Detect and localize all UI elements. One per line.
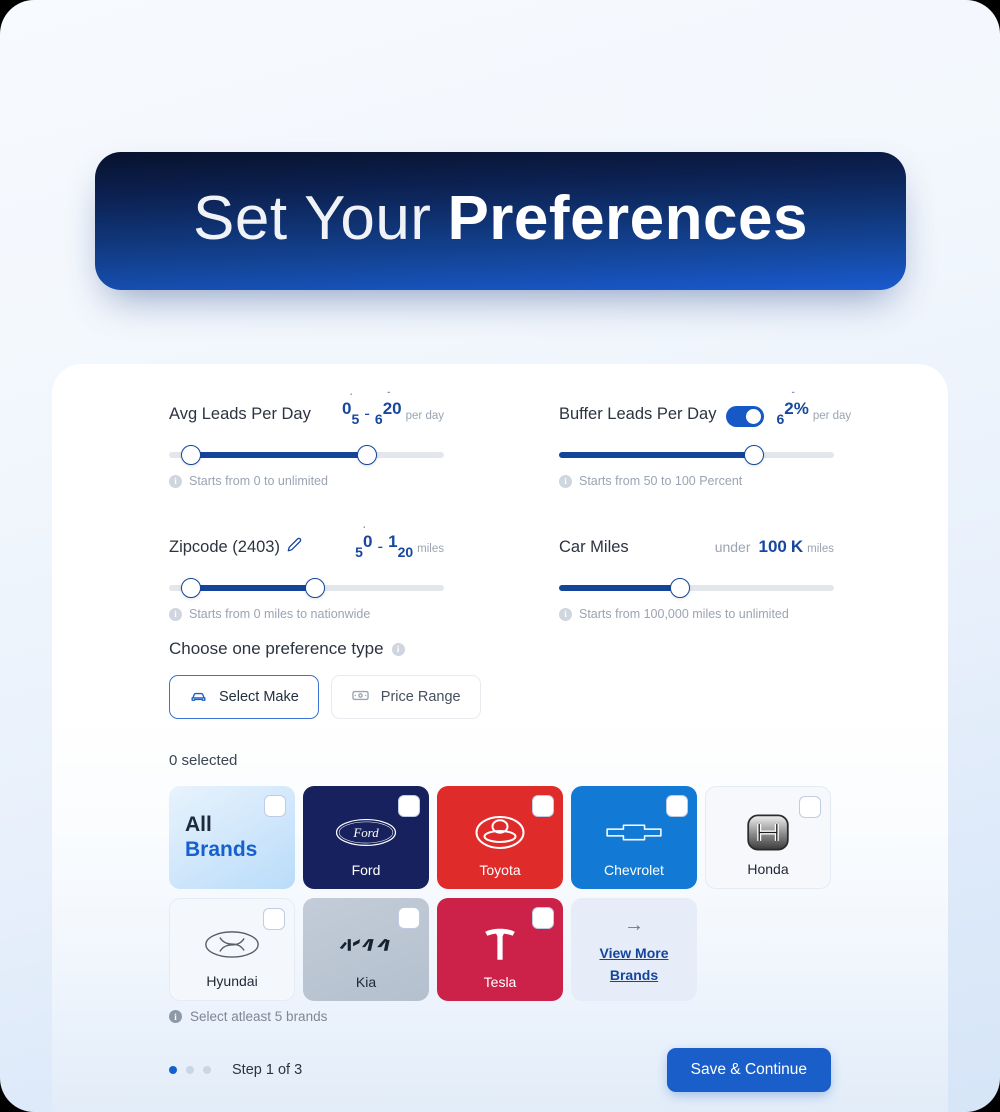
brand-card-view-more[interactable]: → View More Brands [571,898,697,1001]
brand-label: Kia [356,974,376,990]
value-lead: 100 [759,537,787,557]
slider-avg-leads-per-day: Avg Leads Per Day . 05 - - 620 per day [169,404,444,488]
slider-fill [191,452,367,458]
value-max-lead: 6 [375,411,383,427]
roller-ghost-digit: - [791,387,793,398]
app-screen: Set YourPreferences Avg Leads Per Day . … [0,0,1000,1112]
view-more-label-line2: Brands [610,966,658,985]
kia-logo-icon [303,921,429,967]
slider-value-display: - 62% per day [776,404,851,424]
page-title: Set YourPreferences [193,188,808,254]
slider-car-miles: Car Miles under 100K miles i Starts from… [559,537,834,621]
range-separator: - [364,404,370,424]
brand-label-line1: All [185,813,212,837]
slider-unit: miles [807,543,834,555]
value-max-trail: 20 [398,544,414,560]
roller-ghost-digit-2: - [387,387,389,398]
slider-value-display: under 100K miles [715,537,834,557]
money-icon [351,686,370,709]
ford-logo-icon: Ford [303,809,429,855]
brand-label: Hyundai [206,973,257,989]
slider-header: Zipcode (2403) . 50 - 120 miles [169,537,444,561]
roller-ghost-digit: . [350,387,352,398]
slider-hint-text: Starts from 50 to 100 Percent [579,474,742,488]
slider-track-area[interactable] [559,445,834,465]
slider-knob[interactable] [744,445,764,465]
brand-card-tesla[interactable]: Tesla [437,898,563,1001]
honda-logo-icon [706,809,830,855]
value-max-roller: 120 [388,537,413,557]
hyundai-logo-icon [170,921,294,967]
slider-zipcode: Zipcode (2403) . 50 - 120 miles [169,537,444,621]
brand-card-hyundai[interactable]: Hyundai [169,898,295,1001]
brand-grid: All Brands Ford Ford Toyota [169,786,831,1001]
slider-grid: Avg Leads Per Day . 05 - - 620 per day [169,404,849,621]
hero-banner: Set YourPreferences [95,152,906,290]
value-max-lead: 1 [388,532,397,552]
slider-hint: i Starts from 0 miles to nationwide [169,607,444,621]
slider-value-display: . 05 - - 620 per day [342,404,444,424]
value-min-lead: 0 [342,399,351,419]
buffer-leads-toggle[interactable] [726,406,764,427]
view-more-label-line1: View More [600,944,669,963]
value-max-trail: 20 [383,399,402,419]
slider-track-area[interactable] [169,578,444,598]
slider-unit: per day [406,410,444,422]
slider-knob-max[interactable] [305,578,325,598]
selected-count: 0 selected [169,752,237,769]
slider-hint: i Starts from 100,000 miles to unlimited [559,607,834,621]
brand-label: Toyota [479,862,520,878]
slider-knob-min[interactable] [181,578,201,598]
brand-checkbox[interactable] [264,795,286,817]
slider-fill [559,585,680,591]
value-lead: 6 [776,411,784,427]
slider-knob-max[interactable] [357,445,377,465]
slider-header: Car Miles under 100K miles [559,537,834,561]
hero-inner: Set YourPreferences [95,152,906,290]
brand-card-toyota[interactable]: Toyota [437,786,563,889]
slider-track-area[interactable] [169,445,444,465]
preference-option-label: Price Range [381,689,461,705]
brand-card-chevrolet[interactable]: Chevrolet [571,786,697,889]
arrow-right-icon: → [624,915,644,935]
brand-label: Tesla [484,974,517,990]
brand-card-ford[interactable]: Ford Ford [303,786,429,889]
info-icon: i [169,475,182,488]
preference-type-title: Choose one preference type [169,639,384,659]
slider-value-display: . 50 - 120 miles [355,537,444,557]
slider-label: Zipcode (2403) [169,538,280,557]
info-icon: i [559,608,572,621]
svg-text:Ford: Ford [352,825,379,840]
slider-hint-text: Starts from 0 miles to nationwide [189,607,370,621]
value-min-trail: 5 [351,411,359,427]
tesla-logo-icon [437,921,563,967]
car-icon [189,686,208,709]
range-separator: - [377,537,383,557]
preference-option-price-range[interactable]: Price Range [331,675,481,719]
slider-unit: miles [417,543,444,555]
brand-label: Chevrolet [604,862,664,878]
slider-hint-text: Starts from 100,000 miles to unlimited [579,607,789,621]
preference-type-header: Choose one preference type i [169,639,481,659]
slider-knob[interactable] [670,578,690,598]
brand-note-text: Select atleast 5 brands [190,1009,327,1024]
save-and-continue-button[interactable]: Save & Continue [667,1048,831,1092]
brand-selection-note: i Select atleast 5 brands [169,1009,327,1024]
value-min-roller: . 50 [355,537,372,557]
value-trail: 2% [784,399,809,419]
preference-option-label: Select Make [219,689,299,705]
slider-hint-text: Starts from 0 to unlimited [189,474,328,488]
preference-type-section: Choose one preference type i Select Make… [169,639,481,719]
slider-hint: i Starts from 0 to unlimited [169,474,444,488]
card-footer: Step 1 of 3 Save & Continue [169,1048,831,1092]
brand-card-all-brands[interactable]: All Brands [169,786,295,889]
brand-label-line2: Brands [185,838,257,862]
step-dot-2[interactable] [186,1066,194,1074]
preference-type-options: Select Make Price Range [169,675,481,719]
brand-label: Honda [747,861,788,877]
slider-unit: per day [813,410,851,422]
step-dot-1[interactable] [169,1066,177,1074]
value-roller: - 62% [776,404,808,424]
slider-buffer-leads-per-day: Buffer Leads Per Day - 62% per day [559,404,834,488]
edit-pencil-icon[interactable] [287,537,302,552]
brand-label: Ford [352,862,381,878]
step-dot-3[interactable] [203,1066,211,1074]
preference-option-select-make[interactable]: Select Make [169,675,319,719]
chevrolet-logo-icon [571,809,697,855]
slider-label: Buffer Leads Per Day [559,405,716,424]
brand-card-honda[interactable]: Honda [705,786,831,889]
slider-track-area[interactable] [559,578,834,598]
page-title-bold: Preferences [447,184,808,253]
step-indicator-text: Step 1 of 3 [232,1062,302,1078]
info-icon: i [169,1010,182,1023]
slider-header: Buffer Leads Per Day - 62% per day [559,404,834,428]
page-title-light: Set Your [193,184,431,253]
value-min-roller: . 05 [342,404,359,424]
slider-knob-min[interactable] [181,445,201,465]
slider-fill [191,585,315,591]
slider-label: Car Miles [559,538,629,557]
roller-ghost-digit: . [363,520,365,531]
value-max-roller: - 620 [375,404,402,424]
value-trail: K [791,537,803,557]
preferences-card: Avg Leads Per Day . 05 - - 620 per day [52,364,948,1112]
info-icon: i [169,608,182,621]
value-min-trail: 0 [363,532,372,552]
toyota-logo-icon [437,809,563,855]
value-prefix: under [715,539,751,555]
brand-card-kia[interactable]: Kia [303,898,429,1001]
step-dots [169,1066,211,1074]
info-icon: i [559,475,572,488]
info-icon[interactable]: i [392,643,405,656]
slider-fill [559,452,754,458]
slider-hint: i Starts from 50 to 100 Percent [559,474,834,488]
slider-header: Avg Leads Per Day . 05 - - 620 per day [169,404,444,428]
value-min-lead: 5 [355,544,363,560]
slider-label: Avg Leads Per Day [169,405,311,424]
